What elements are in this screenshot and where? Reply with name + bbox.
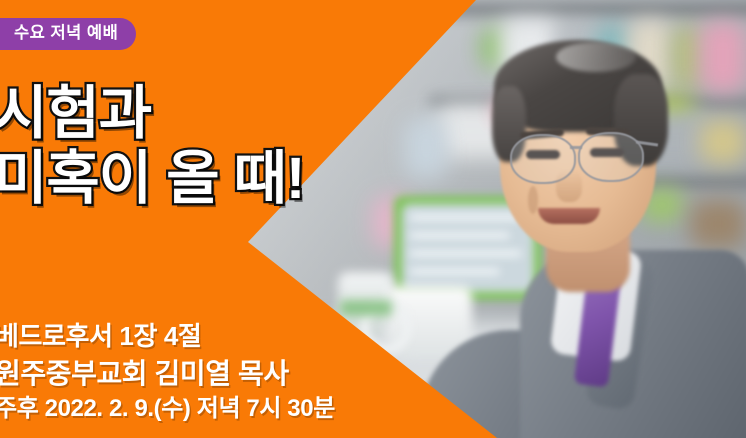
clutter-item-brown bbox=[690, 200, 746, 248]
clutter-book-yellow bbox=[700, 120, 746, 164]
nose bbox=[556, 170, 582, 202]
speaker-name: 원주중부교회 김미열 목사 bbox=[0, 355, 335, 393]
sermon-details: 베드로후서 1장 4절 원주중부교회 김미열 목사 주후 2022. 2. 9.… bbox=[0, 319, 335, 424]
scripture-reference: 베드로후서 1장 4절 bbox=[0, 319, 335, 355]
notice-board-line-3 bbox=[410, 250, 522, 257]
clutter-folder-blue bbox=[404, 118, 448, 178]
hair-gray-streak bbox=[556, 42, 636, 72]
sermon-poster: 수요 저녁 예배 시험과 미혹이 올 때! 베드로후서 1장 4절 원주중부교회… bbox=[0, 0, 746, 438]
service-type-badge-label: 수요 저녁 예배 bbox=[14, 24, 118, 42]
sermon-title-line-2: 미혹이 올 때! bbox=[0, 147, 304, 212]
notice-board-line-2 bbox=[410, 232, 510, 239]
notice-board-line-1 bbox=[410, 214, 522, 221]
mug-green-band bbox=[340, 300, 392, 316]
service-datetime: 주후 2022. 2. 9.(수) 저녁 7시 30분 bbox=[0, 393, 335, 424]
eyeglasses-lens-right bbox=[578, 132, 644, 182]
service-type-badge: 수요 저녁 예배 bbox=[0, 18, 136, 50]
shelf-board-top bbox=[430, 2, 746, 16]
notice-board-line-4 bbox=[410, 268, 500, 275]
eyeglasses-bridge bbox=[570, 146, 582, 149]
sermon-title-line-1: 시험과 bbox=[0, 81, 151, 146]
mouth-smile bbox=[538, 208, 600, 224]
clutter-book-olive bbox=[672, 26, 702, 88]
cheek-smile-line bbox=[528, 186, 538, 214]
sermon-title: 시험과 미혹이 올 때! bbox=[0, 82, 304, 212]
clutter-book-pink bbox=[700, 22, 746, 92]
